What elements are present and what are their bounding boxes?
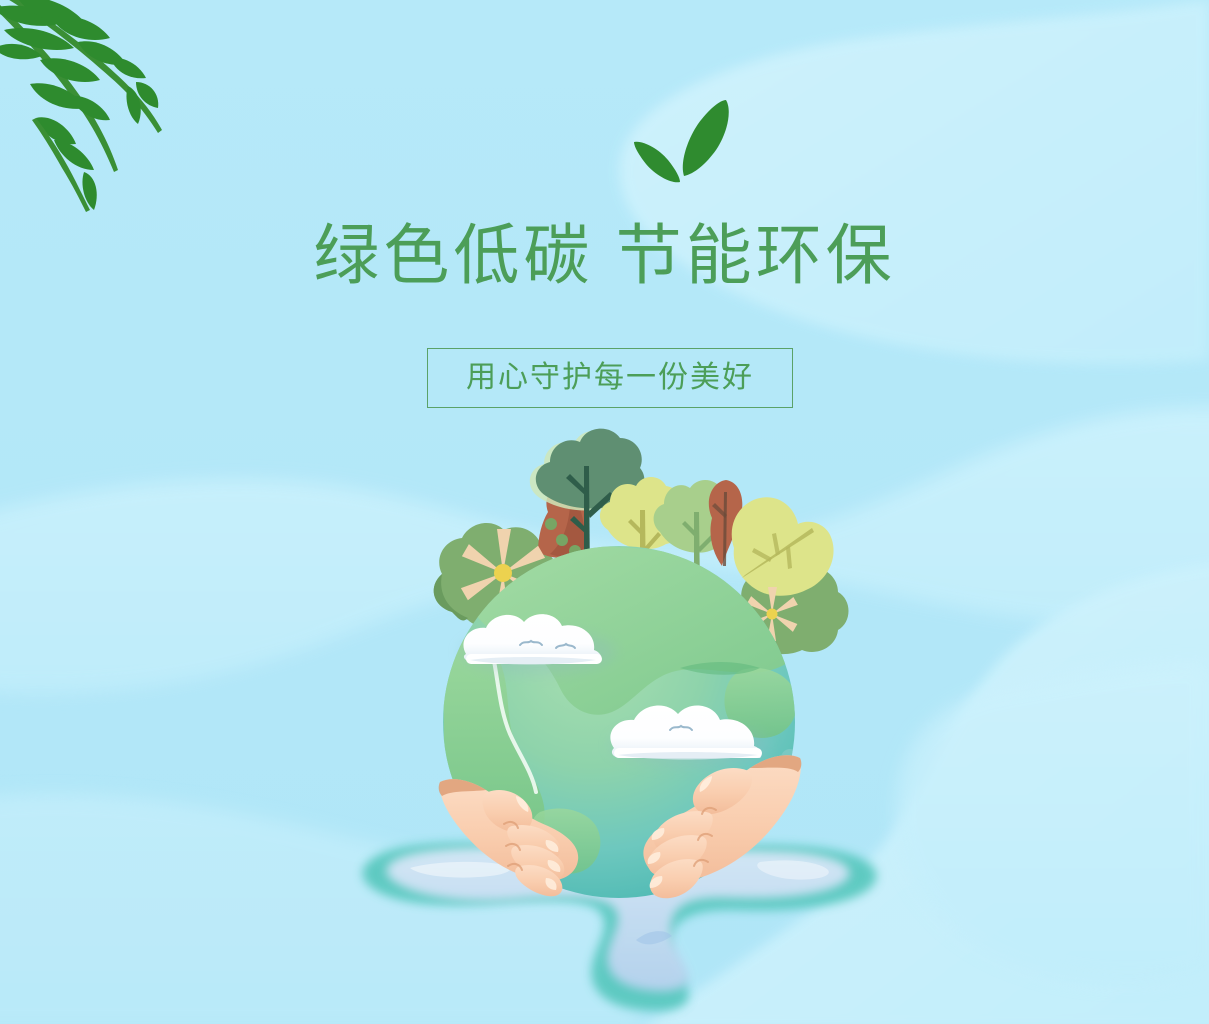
leaf-sprig-right — [683, 100, 729, 176]
leaf-pair-decoration — [0, 0, 1209, 1024]
poster-canvas: 绿色低碳 节能环保 用心守护每一份美好 — [0, 0, 1209, 1024]
leaf-sprig-left — [634, 142, 680, 183]
